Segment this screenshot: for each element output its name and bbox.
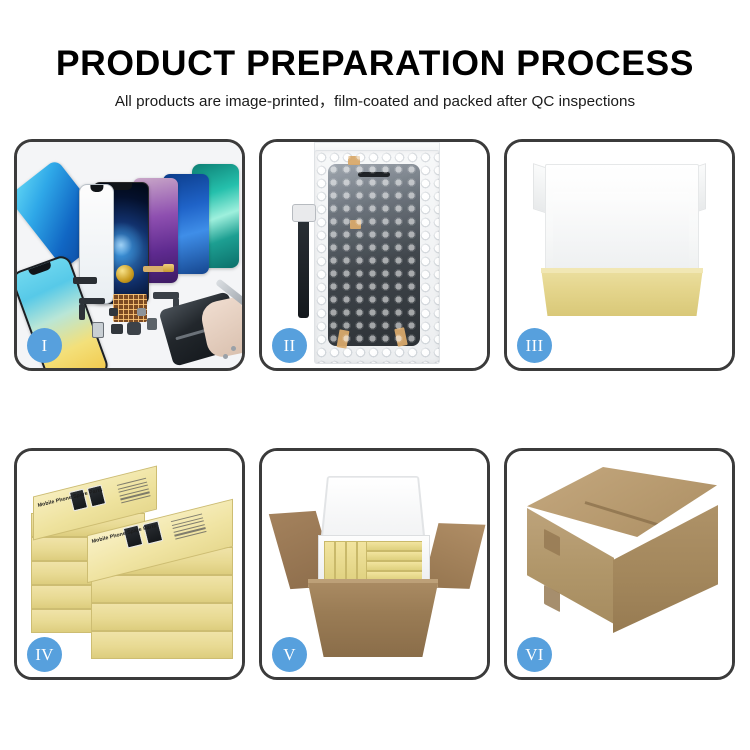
step-badge-3: III <box>517 328 552 363</box>
gold-connector-icon <box>163 264 174 272</box>
process-step-panel-2[interactable]: II <box>259 139 490 371</box>
page-subtitle: All products are image-printed，film-coat… <box>0 85 750 112</box>
protector-notch-icon <box>90 185 103 192</box>
step-badge-1: I <box>27 328 62 363</box>
sim-tray-icon <box>92 322 104 338</box>
packed-box-horizontal-2 <box>366 551 422 561</box>
packed-box-vertical-3 <box>346 541 357 583</box>
box-foam-sheet-icon <box>553 192 689 270</box>
packed-box-horizontal-1 <box>366 541 422 551</box>
speaker-module-icon <box>73 277 97 284</box>
retail-box-front-3 <box>91 603 233 631</box>
packed-box-vertical-2 <box>335 541 346 583</box>
packed-box-vertical-1 <box>324 541 335 583</box>
process-step-panel-3[interactable]: III <box>504 139 735 371</box>
retail-box-front-4 <box>91 631 233 659</box>
small-part-icon-4 <box>137 308 146 316</box>
small-part-icon-1 <box>111 324 123 334</box>
process-step-panel-5[interactable]: V <box>259 448 490 680</box>
flex-cable-icon-2 <box>79 304 85 320</box>
step-badge-2: II <box>272 328 307 363</box>
box-base-icon <box>541 268 703 316</box>
box-rim-icon <box>541 268 703 273</box>
process-steps-grid: I II III <box>14 139 736 680</box>
screen-protector-icon <box>79 184 114 304</box>
tape-icon-2 <box>350 220 361 229</box>
page-title: PRODUCT PREPARATION PROCESS <box>0 0 750 85</box>
packed-box-horizontal-3 <box>366 561 422 571</box>
cable-connector-icon <box>292 204 316 222</box>
small-part-icon-3 <box>109 308 118 316</box>
vibration-motor-icon <box>116 265 134 283</box>
step-badge-5: V <box>272 637 307 672</box>
camera-module-icon <box>127 322 141 335</box>
phone-large-notch-icon <box>28 262 52 277</box>
wrapped-lcd-part-icon <box>328 164 420 346</box>
retail-box-front-2 <box>91 575 233 603</box>
tape-icon-1 <box>348 156 360 165</box>
process-step-panel-1[interactable]: I <box>14 139 245 371</box>
step-badge-4: IV <box>27 637 62 672</box>
foam-lid-icon <box>321 476 426 540</box>
page-header: PRODUCT PREPARATION PROCESS All products… <box>0 0 750 112</box>
retail-box-stack-illustration: Mobile Phone Spare Parts Mobile Phone Sp… <box>27 465 239 665</box>
small-part-icon-2 <box>147 318 157 330</box>
step-badge-6: VI <box>517 637 552 672</box>
screw-icon-2 <box>223 354 228 359</box>
process-step-panel-6[interactable]: VI <box>504 448 735 680</box>
process-step-panel-4[interactable]: Mobile Phone Spare Parts Mobile Phone Sp… <box>14 448 245 680</box>
packed-retail-boxes-group <box>324 541 422 583</box>
carton-body-icon <box>308 583 438 657</box>
flex-cable-icon-5 <box>143 266 165 272</box>
screw-icon-1 <box>231 346 236 351</box>
display-flex-cable-icon <box>298 214 309 318</box>
